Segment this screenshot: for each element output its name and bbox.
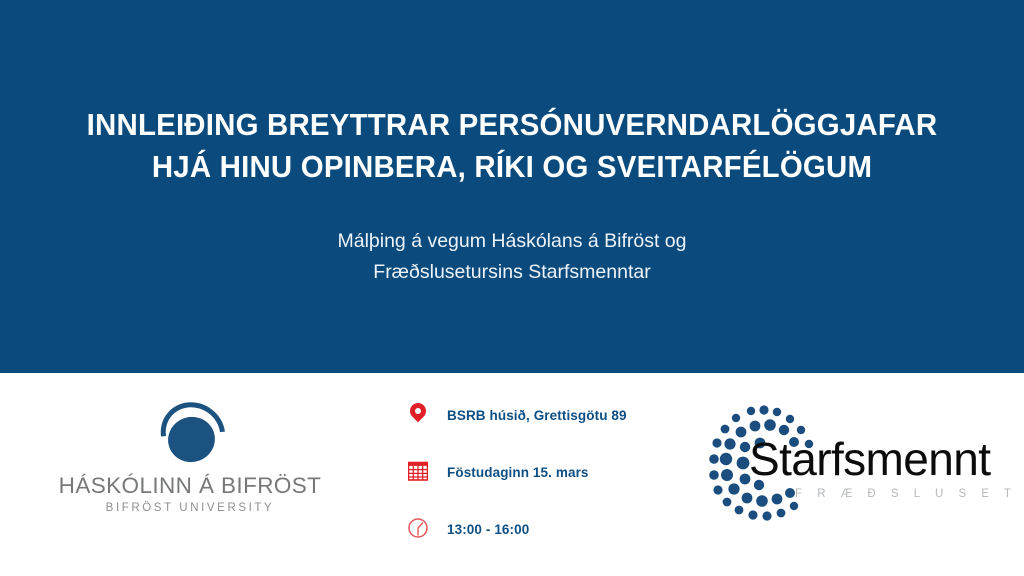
subtitle-line-1: Málþing á vegum Háskólans á Bifröst og <box>0 226 1024 257</box>
page-subtitle: Málþing á vegum Háskólans á Bifröst og F… <box>0 226 1024 288</box>
starfsmennt-logo-name: Starfsmennt <box>749 431 990 487</box>
pin-hole-shape <box>415 408 421 414</box>
clock-icon <box>405 516 431 542</box>
info-row-date: Föstudaginn 15. mars <box>405 457 665 487</box>
bifrost-logo-subname: BIFRÖST UNIVERSITY <box>40 499 340 517</box>
event-poster: INNLEIÐING BREYTTRAR PERSÓNUVERNDARLÖGGJ… <box>0 0 1024 576</box>
location-pin-icon <box>405 402 431 428</box>
event-info-list: BSRB húsið, Grettisgötu 89 Föstud <box>405 400 665 571</box>
title-line-2: HJÁ HINU OPINBERA, RÍKI OG SVEITARFÉLÖGU… <box>18 146 1006 188</box>
footer-band: HÁSKÓLINN Á BIFRÖST BIFRÖST UNIVERSITY B… <box>0 373 1024 576</box>
info-date-text: Föstudaginn 15. mars <box>447 465 589 480</box>
calendar-icon <box>405 459 431 485</box>
hero-banner: INNLEIÐING BREYTTRAR PERSÓNUVERNDARLÖGGJ… <box>0 0 1024 373</box>
bifrost-crescent-icon <box>157 403 223 465</box>
subtitle-line-2: Fræðslusetursins Starfsmenntar <box>0 257 1024 288</box>
info-row-time: 13:00 - 16:00 <box>405 514 665 544</box>
starfsmennt-logo: Starfsmennt F R Æ Ð S L U S E T U R <box>705 403 995 523</box>
info-row-location: BSRB húsið, Grettisgötu 89 <box>405 400 665 430</box>
info-time-text: 13:00 - 16:00 <box>447 522 529 537</box>
title-block: INNLEIÐING BREYTTRAR PERSÓNUVERNDARLÖGGJ… <box>0 104 1024 188</box>
bifrost-logo-name: HÁSKÓLINN Á BIFRÖST <box>40 473 340 499</box>
page-title: INNLEIÐING BREYTTRAR PERSÓNUVERNDARLÖGGJ… <box>0 104 1024 188</box>
subtitle-block: Málþing á vegum Háskólans á Bifröst og F… <box>0 226 1024 288</box>
info-location-text: BSRB húsið, Grettisgötu 89 <box>447 408 627 423</box>
bifrost-university-logo: HÁSKÓLINN Á BIFRÖST BIFRÖST UNIVERSITY <box>40 403 340 517</box>
title-line-1: INNLEIÐING BREYTTRAR PERSÓNUVERNDARLÖGGJ… <box>18 104 1006 146</box>
starfsmennt-logo-subname: F R Æ Ð S L U S E T U R <box>795 488 1024 500</box>
